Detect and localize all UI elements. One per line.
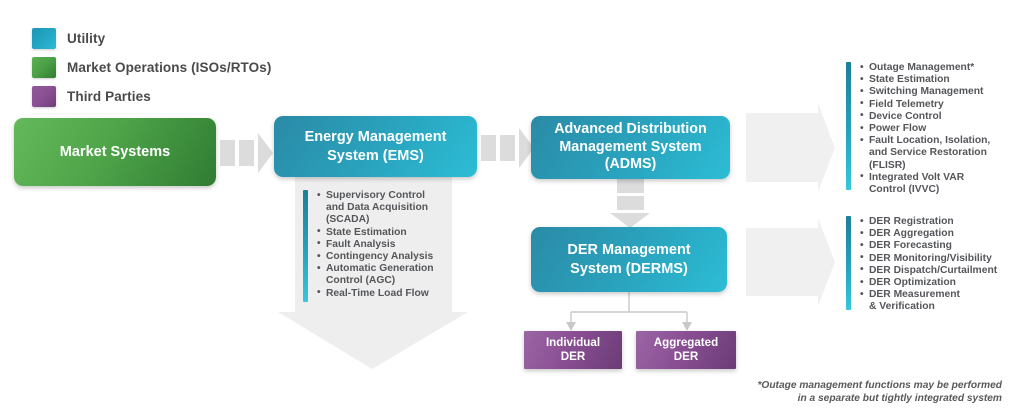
list-item: Supervisory Control and Data Acquisition… [317, 190, 434, 227]
footnote: *Outage management functions may be perf… [757, 379, 1002, 405]
derms-functions-panel: DER Registration DER Aggregation DER For… [846, 216, 997, 310]
list-item: DER Aggregation [860, 228, 997, 240]
dashed-arrow-adms-to-derms [610, 179, 650, 228]
node-ems-label-line2: System (EMS) [327, 147, 424, 165]
list-item: DER Registration [860, 216, 997, 228]
adms-functions-panel: Outage Management* State Estimation Swit… [846, 62, 990, 190]
node-individual-der[interactable]: Individual DER [524, 331, 622, 369]
legend-item-third-parties: Third Parties [32, 86, 151, 107]
connector-derms-to-der [571, 292, 687, 324]
third-parties-swatch [32, 86, 56, 107]
dashed-arrow-market-to-ems [220, 133, 273, 173]
node-adms[interactable]: Advanced Distribution Management System … [531, 116, 730, 179]
list-item: State Estimation [860, 74, 990, 86]
node-adms-label-line2: Management System [559, 139, 701, 157]
block-arrow-adms-to-list [746, 103, 835, 192]
dashed-arrow-ems-to-adms [481, 128, 534, 168]
list-item: State Estimation [317, 227, 434, 239]
ems-functions-panel: Supervisory Control and Data Acquisition… [303, 190, 434, 302]
list-item: DER Forecasting [860, 240, 997, 252]
list-item: Automatic Generation Control (AGC) [317, 263, 434, 287]
legend-label-third-parties: Third Parties [67, 89, 151, 104]
node-individual-der-label-line2: DER [561, 350, 585, 364]
node-derms-label-line2: System (DERMS) [570, 260, 688, 278]
node-aggregated-der-label-line1: Aggregated [654, 336, 718, 350]
list-item: Switching Management [860, 86, 990, 98]
block-arrow-derms-to-list [746, 218, 835, 306]
market-operations-swatch [32, 57, 56, 78]
list-item: Power Flow [860, 123, 990, 135]
list-item: Device Control [860, 111, 990, 123]
list-item: Outage Management* [860, 62, 990, 74]
list-item: DER Dispatch/Curtailment [860, 265, 997, 277]
node-ems[interactable]: Energy Management System (EMS) [274, 116, 477, 177]
legend-item-market-operations: Market Operations (ISOs/RTOs) [32, 57, 271, 78]
legend-item-utility: Utility [32, 28, 105, 49]
node-aggregated-der[interactable]: Aggregated DER [636, 331, 736, 369]
list-item: DER Monitoring/Visibility [860, 253, 997, 265]
diagram-canvas: Utility Market Operations (ISOs/RTOs) Th… [0, 0, 1024, 417]
node-adms-label-line3: (ADMS) [605, 156, 657, 174]
connector-derms-arrowheads [566, 322, 692, 331]
legend-label-utility: Utility [67, 31, 105, 46]
list-item: Real-Time Load Flow [317, 288, 434, 300]
node-derms[interactable]: DER Management System (DERMS) [531, 227, 727, 292]
list-item: DER Optimization [860, 277, 997, 289]
adms-functions-list: Outage Management* State Estimation Swit… [851, 62, 990, 190]
list-item: Field Telemetry [860, 99, 990, 111]
list-item: Fault Location, Isolation, and Service R… [860, 135, 990, 172]
node-aggregated-der-label-line2: DER [674, 350, 698, 364]
node-individual-der-label-line1: Individual [546, 336, 600, 350]
derms-functions-list: DER Registration DER Aggregation DER For… [851, 216, 997, 310]
list-item: Fault Analysis [317, 239, 434, 251]
list-item: Integrated Volt VAR Control (IVVC) [860, 172, 990, 196]
node-ems-label-line1: Energy Management [305, 128, 447, 146]
list-item: Contingency Analysis [317, 251, 434, 263]
list-item: DER Measurement & Verification [860, 289, 997, 313]
utility-swatch [32, 28, 56, 49]
legend-label-market-operations: Market Operations (ISOs/RTOs) [67, 60, 271, 75]
node-market-systems-label: Market Systems [60, 143, 170, 161]
ems-functions-list: Supervisory Control and Data Acquisition… [308, 190, 434, 302]
node-derms-label-line1: DER Management [567, 241, 690, 259]
node-adms-label-line1: Advanced Distribution [554, 121, 707, 139]
node-market-systems[interactable]: Market Systems [14, 118, 216, 186]
